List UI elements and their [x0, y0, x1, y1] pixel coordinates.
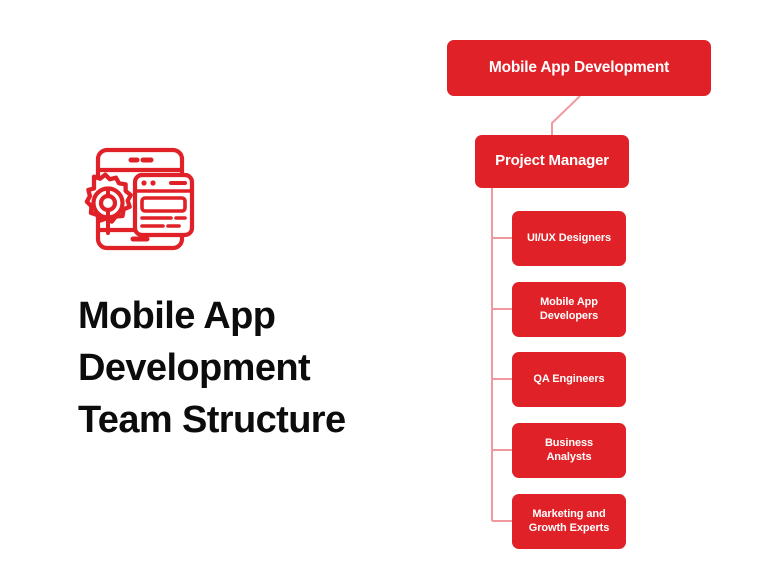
- org-node-project-manager-label: Project Manager: [495, 152, 609, 171]
- org-node-ui-ux-designers-label: UI/UX Designers: [527, 232, 611, 246]
- org-node-marketing-growth-experts-label: Marketing and Growth Experts: [529, 508, 610, 536]
- mobile-app-development-icon: [75, 145, 195, 255]
- window-dot-2: [150, 180, 155, 185]
- window-dot-1: [141, 180, 146, 185]
- org-node-project-manager[interactable]: Project Manager: [475, 135, 629, 188]
- infographic-canvas: Mobile App Development Team Structure Mo…: [0, 0, 768, 576]
- page-title-line-2: Development: [78, 343, 418, 395]
- org-node-root-label: Mobile App Development: [489, 58, 669, 77]
- page-title-line-3: Team Structure: [78, 395, 418, 447]
- gear-icon: [87, 175, 131, 233]
- page-title-line-1: Mobile App: [78, 291, 418, 343]
- app-window-panel: [135, 175, 192, 235]
- org-node-mobile-app-developers[interactable]: Mobile App Developers: [512, 282, 626, 337]
- org-node-ui-ux-designers[interactable]: UI/UX Designers: [512, 211, 626, 266]
- org-node-root[interactable]: Mobile App Development: [447, 40, 711, 96]
- org-node-qa-engineers[interactable]: QA Engineers: [512, 352, 626, 407]
- org-node-marketing-growth-experts[interactable]: Marketing and Growth Experts: [512, 494, 626, 549]
- org-chart: Mobile App Development Project Manager U…: [430, 0, 768, 576]
- page-title: Mobile App Development Team Structure: [78, 291, 418, 446]
- connector-root-to-manager: [552, 96, 580, 135]
- org-node-business-analysts-label: Business Analysts: [545, 437, 593, 465]
- org-node-qa-engineers-label: QA Engineers: [533, 373, 604, 387]
- org-node-business-analysts[interactable]: Business Analysts: [512, 423, 626, 478]
- left-panel: Mobile App Development Team Structure: [0, 0, 430, 576]
- org-node-mobile-app-developers-label: Mobile App Developers: [540, 296, 598, 324]
